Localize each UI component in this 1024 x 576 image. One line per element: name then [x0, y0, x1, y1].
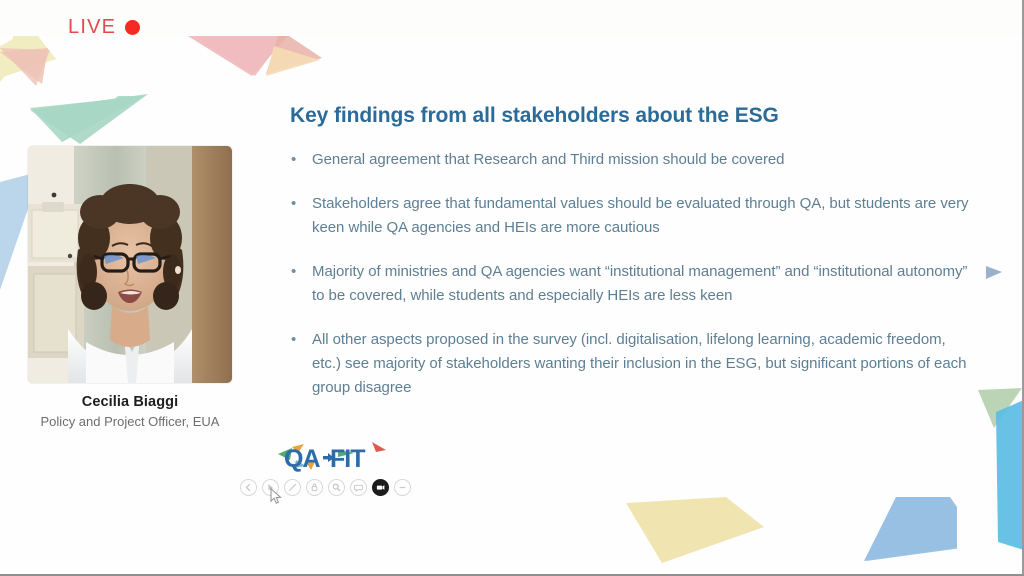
bullet-marker-icon: • — [288, 148, 312, 172]
speaker-name: Cecilia Biaggi — [28, 394, 232, 410]
cursor-arrow-icon[interactable] — [262, 479, 279, 496]
bullet-item: • General agreement that Research and Th… — [288, 148, 978, 172]
magnifier-icon[interactable] — [328, 479, 345, 496]
svg-text:FIT: FIT — [330, 445, 365, 473]
svg-text:QA: QA — [284, 445, 320, 473]
pen-slash-icon[interactable] — [284, 479, 301, 496]
slide-title: Key findings from all stakeholders about… — [290, 104, 779, 128]
bullet-item: • Stakeholders agree that fundamental va… — [288, 192, 978, 240]
decoration-pink-triangle-top — [75, 0, 365, 82]
slide-stage: LIVE — [0, 0, 1024, 576]
bullet-marker-icon: • — [288, 192, 312, 216]
decoration-mint-triangle — [28, 92, 158, 150]
bullet-text: Stakeholders agree that fundamental valu… — [312, 192, 978, 240]
bullet-text: General agreement that Research and Thir… — [312, 148, 978, 172]
webcam-video-feed[interactable] — [28, 146, 232, 383]
decoration-right-small-triangle — [986, 264, 1008, 282]
video-record-icon[interactable] — [372, 479, 389, 496]
recording-dot-icon — [125, 20, 140, 35]
speaker-role: Policy and Project Officer, EUA — [28, 414, 232, 429]
decoration-top-banner-tint — [0, 0, 1024, 36]
annotation-toolbar[interactable] — [240, 479, 411, 496]
speaker-panel[interactable]: Cecilia Biaggi Policy and Project Office… — [28, 146, 232, 429]
decoration-salmon-triangle — [248, 30, 328, 80]
comment-icon[interactable] — [350, 479, 367, 496]
bullet-marker-icon: • — [288, 260, 312, 284]
minimize-icon[interactable] — [394, 479, 411, 496]
decoration-bottom-blue-quad — [832, 495, 957, 565]
stamp-icon[interactable] — [306, 479, 323, 496]
live-label: LIVE — [68, 17, 116, 37]
bullet-marker-icon: • — [288, 328, 312, 352]
decoration-right-cyan-shape — [994, 400, 1024, 560]
bullet-item: • Majority of ministries and QA agencies… — [288, 260, 978, 308]
qafit-logo: QA FIT — [276, 440, 396, 476]
bullet-item: • All other aspects proposed in the surv… — [288, 328, 978, 400]
decoration-bottom-yellow-quad — [624, 495, 769, 567]
bullet-list: • General agreement that Research and Th… — [288, 148, 978, 400]
back-arrow-icon[interactable] — [240, 479, 257, 496]
bullet-text: All other aspects proposed in the survey… — [312, 328, 978, 400]
decoration-right-sage-triangle — [978, 388, 1024, 432]
live-badge: LIVE — [68, 17, 140, 37]
bullet-text: Majority of ministries and QA agencies w… — [312, 260, 978, 308]
